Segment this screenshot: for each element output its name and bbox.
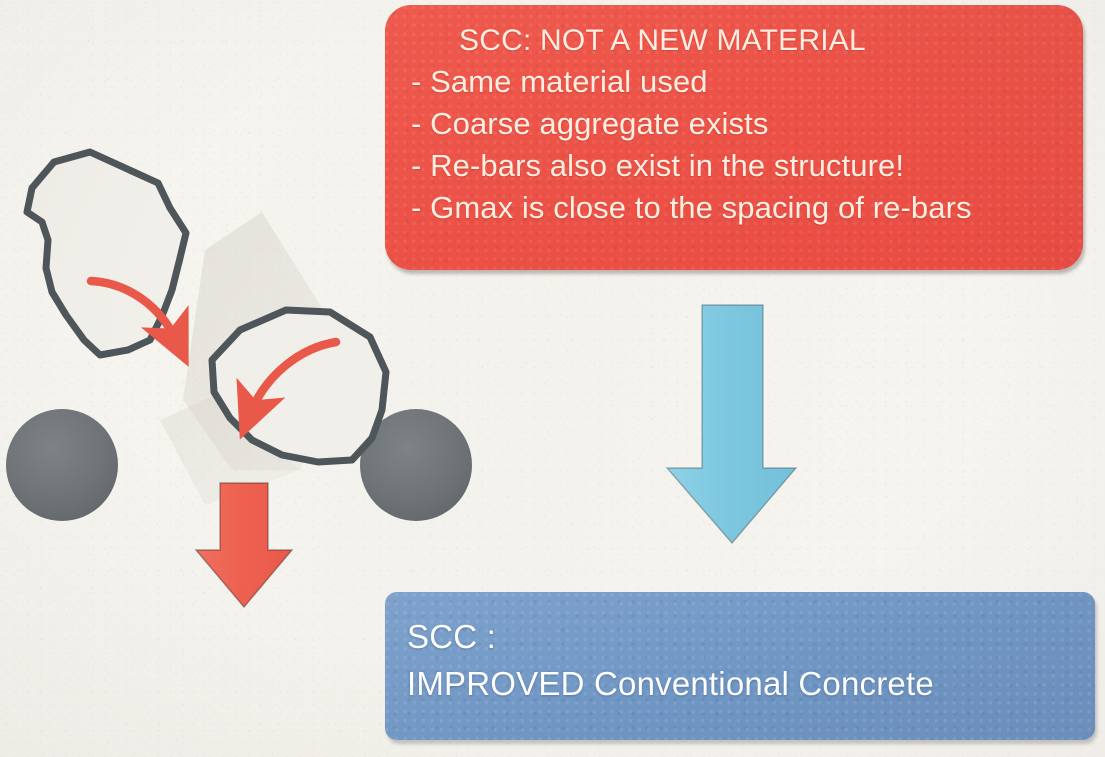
curved-flow-arrow-upper [91, 281, 176, 340]
aggregate-shadow [160, 212, 345, 505]
rebar-left-circle [6, 409, 118, 521]
rebar-right-circle [360, 409, 472, 521]
red-callout-bullet-3: - Re-bars also exist in the structure! [399, 145, 1069, 187]
blue-callout-line-1: SCC : [407, 614, 1077, 661]
red-callout-bullet-4: - Gmax is close to the spacing of re-bar… [399, 187, 1069, 229]
blue-callout-line-2: IMPROVED Conventional Concrete [407, 661, 1077, 708]
coarse-aggregate-lower [212, 310, 386, 462]
red-callout-box: SCC: NOT A NEW MATERIAL - Same material … [385, 5, 1083, 270]
blue-arrow-shape [667, 305, 796, 543]
slide-canvas: SCC: NOT A NEW MATERIAL - Same material … [0, 0, 1105, 757]
red-callout-bullet-2: - Coarse aggregate exists [399, 103, 1069, 145]
curved-flow-arrow-lower [251, 342, 336, 412]
red-callout-bullet-1: - Same material used [399, 61, 1069, 103]
coarse-aggregate-upper [27, 152, 186, 355]
blue-callout-box: SCC : IMPROVED Conventional Concrete [385, 592, 1095, 740]
red-callout-title: SCC: NOT A NEW MATERIAL [399, 21, 1069, 61]
red-arrow-shape [196, 483, 292, 607]
